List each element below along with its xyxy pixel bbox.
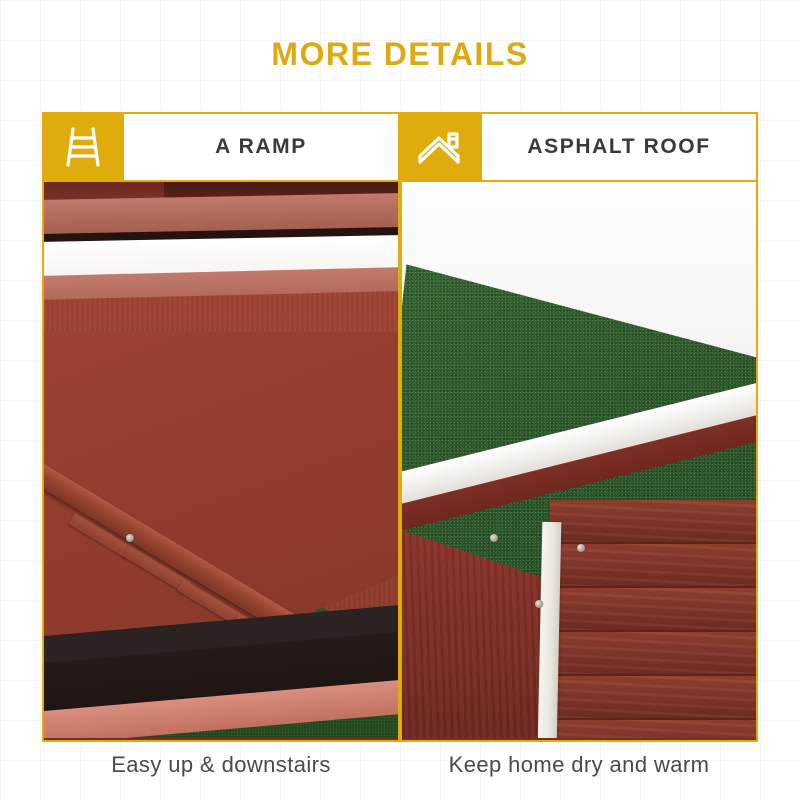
coop-front-wall (550, 500, 756, 738)
panel-header-ramp: A RAMP (42, 112, 400, 182)
siding-plank (550, 500, 756, 544)
roof-icon (400, 112, 482, 182)
siding-plank (550, 632, 756, 676)
detail-panel-roof: ASPHALT ROOF (400, 112, 758, 742)
ladder-icon (42, 112, 124, 182)
detail-panel-ramp: A RAMP (42, 112, 400, 742)
siding-plank (550, 588, 756, 632)
panel-label-ramp: A RAMP (215, 135, 307, 159)
panel-label-roof: ASPHALT ROOF (527, 135, 710, 159)
siding-plank (550, 676, 756, 720)
caption-ramp: Easy up & downstairs (42, 752, 400, 778)
panel-label-box-roof: ASPHALT ROOF (482, 112, 758, 182)
screw-icon (490, 534, 498, 542)
siding-plank (550, 720, 756, 738)
panel-header-roof: ASPHALT ROOF (400, 112, 758, 182)
caption-roof: Keep home dry and warm (400, 752, 758, 778)
page-title: MORE DETAILS (0, 36, 800, 73)
screw-icon (126, 534, 134, 542)
photo-roof (400, 182, 758, 742)
screw-icon (577, 544, 585, 552)
panel-label-box-ramp: A RAMP (124, 112, 400, 182)
photo-ramp (42, 182, 400, 742)
screw-icon (535, 600, 543, 608)
